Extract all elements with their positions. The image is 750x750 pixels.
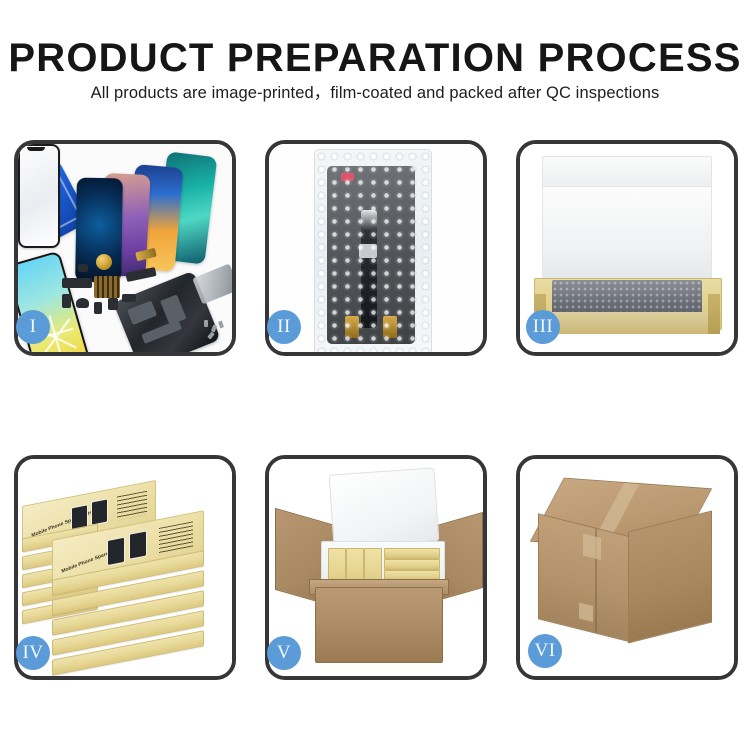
box-art-phone — [129, 530, 147, 559]
step-badge-2: II — [267, 310, 301, 344]
page-title: PRODUCT PREPARATION PROCESS — [0, 38, 750, 78]
small-part-graphic — [122, 294, 136, 302]
carton-body-graphic — [315, 587, 443, 663]
tray-front-graphic — [534, 312, 720, 334]
small-part-graphic — [62, 294, 71, 308]
grid-chip-graphic — [94, 276, 120, 298]
packed-box — [384, 559, 440, 570]
packed-box — [384, 548, 440, 559]
step-panel-4: Mobile Phone Spare Parts Mobile Phone Sp… — [14, 455, 236, 680]
carton-tab-graphic — [583, 534, 601, 560]
box-lid-flap-graphic — [542, 156, 712, 190]
step-image-1 — [18, 144, 232, 352]
step-panel-5: V — [265, 455, 487, 680]
chip-graphic — [127, 300, 157, 325]
step-badge-3: III — [526, 310, 560, 344]
bubble-wrap-bag-graphic — [315, 150, 431, 352]
infographic-page: PRODUCT PREPARATION PROCESS All products… — [0, 0, 750, 750]
step-image-2 — [269, 144, 483, 352]
foam-lid-open-graphic — [329, 467, 440, 548]
small-part-graphic — [76, 298, 89, 308]
bubble-texture-overlay — [315, 150, 431, 352]
screen-glass-graphic — [18, 144, 60, 248]
box-art-phone — [107, 537, 125, 566]
small-part-graphic — [94, 302, 102, 314]
grey-foam-insert-graphic — [552, 280, 702, 314]
carton-tab-graphic — [579, 603, 593, 622]
step-badge-5: V — [267, 636, 301, 670]
box-spec-lines — [159, 521, 193, 554]
step-panel-2: II — [265, 140, 487, 356]
step-image-5 — [269, 459, 483, 676]
white-foam-lid-graphic — [542, 186, 712, 284]
chip-graphic — [141, 320, 182, 344]
small-part-graphic — [78, 264, 88, 272]
box-stack-graphic: Mobile Phone Spare Parts Mobile Phone Sp… — [18, 459, 232, 676]
screws-graphic — [204, 320, 226, 340]
step-panel-6: VI — [516, 455, 738, 680]
step-panel-1: I — [14, 140, 236, 356]
tray-corner-right-graphic — [708, 294, 720, 334]
step-badge-4: IV — [16, 636, 50, 670]
carton-right-face-graphic — [628, 511, 712, 644]
step-panel-3: III — [516, 140, 738, 356]
step-badge-1: I — [16, 310, 50, 344]
box-spec-lines — [117, 491, 147, 521]
step-image-4: Mobile Phone Spare Parts Mobile Phone Sp… — [18, 459, 232, 676]
small-part-graphic — [108, 298, 118, 310]
page-subtitle: All products are image-printed，film-coat… — [0, 85, 750, 102]
gold-coil-graphic — [96, 254, 112, 270]
step-badge-6: VI — [528, 634, 562, 668]
flex-cable-graphic — [62, 278, 92, 288]
box-art-phone — [91, 498, 108, 525]
